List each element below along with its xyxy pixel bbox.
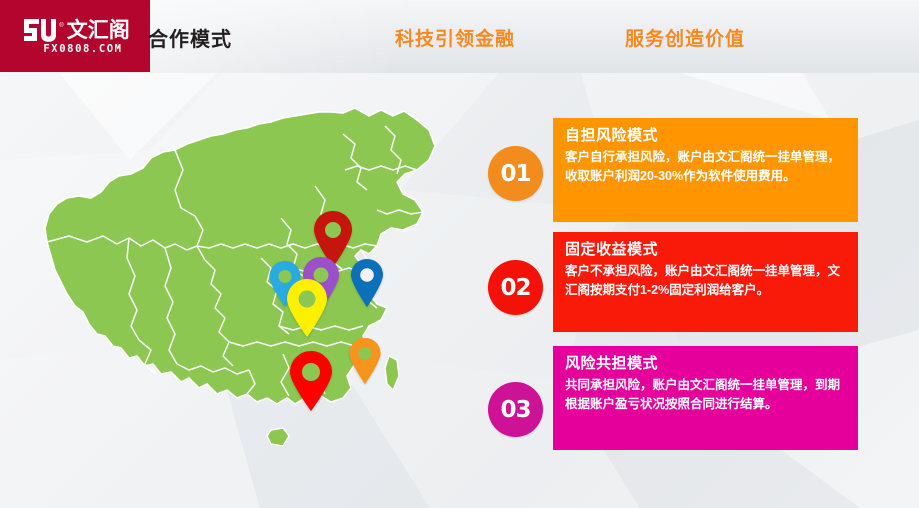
- mode-badge-01[interactable]: 01: [488, 146, 543, 201]
- page-title: 合作模式: [148, 23, 232, 52]
- mode-title-02: 固定收益模式: [565, 239, 848, 261]
- mode-card-03[interactable]: 风险共担模式 共同承担风险，账户由文汇阁统一挂单管理，到期根据账户盈亏状况按照合…: [553, 346, 858, 450]
- taiwan-island: [385, 356, 399, 390]
- pin-orange[interactable]: [347, 337, 383, 385]
- pin-yellow[interactable]: [284, 278, 330, 338]
- mode-badge-02[interactable]: 02: [488, 260, 543, 315]
- header-slogan-2: 服务创造价值: [625, 24, 745, 51]
- china-map-svg: [25, 78, 470, 498]
- mode-body-01: 客户自行承担风险，账户由文汇阁统一挂单管理，收取账户利润20-30%作为软件使用…: [565, 148, 848, 185]
- hainan-island: [267, 428, 289, 446]
- mode-body-02: 客户不承担风险，账户由文汇阁统一挂单管理，文汇阁按期支付1-2%固定利润给客户。: [565, 262, 848, 299]
- pin-blue[interactable]: [348, 258, 386, 308]
- page-header: ® 文汇阁 FX0808.COM 合作模式 科技引领金融 服务创造价值: [0, 0, 919, 73]
- brand-url: FX0808.COM: [43, 43, 122, 55]
- mode-card-02[interactable]: 固定收益模式 客户不承担风险，账户由文汇阁统一挂单管理，文汇阁按期支付1-2%固…: [553, 232, 858, 332]
- mode-title-01: 自担风险模式: [565, 125, 848, 147]
- pin-red[interactable]: [287, 350, 335, 412]
- mode-badge-03[interactable]: 03: [488, 382, 543, 437]
- brand-logo[interactable]: ® 文汇阁 FX0808.COM: [0, 0, 150, 72]
- china-map[interactable]: [25, 78, 470, 498]
- slide-canvas: ® 文汇阁 FX0808.COM 合作模式 科技引领金融 服务创造价值: [0, 0, 919, 508]
- ru-monogram-icon: [22, 17, 56, 41]
- cooperation-modes-panel: 01 自担风险模式 客户自行承担风险，账户由文汇阁统一挂单管理，收取账户利润20…: [480, 108, 900, 470]
- header-slogan-1: 科技引领金融: [395, 24, 515, 51]
- mode-body-03: 共同承担风险，账户由文汇阁统一挂单管理，到期根据账户盈亏状况按照合同进行结算。: [565, 376, 848, 413]
- registered-trademark-icon: ®: [59, 23, 63, 29]
- brand-name-cn: 文汇阁: [67, 19, 130, 41]
- mode-card-01[interactable]: 自担风险模式 客户自行承担风险，账户由文汇阁统一挂单管理，收取账户利润20-30…: [553, 118, 858, 222]
- mode-title-03: 风险共担模式: [565, 353, 848, 375]
